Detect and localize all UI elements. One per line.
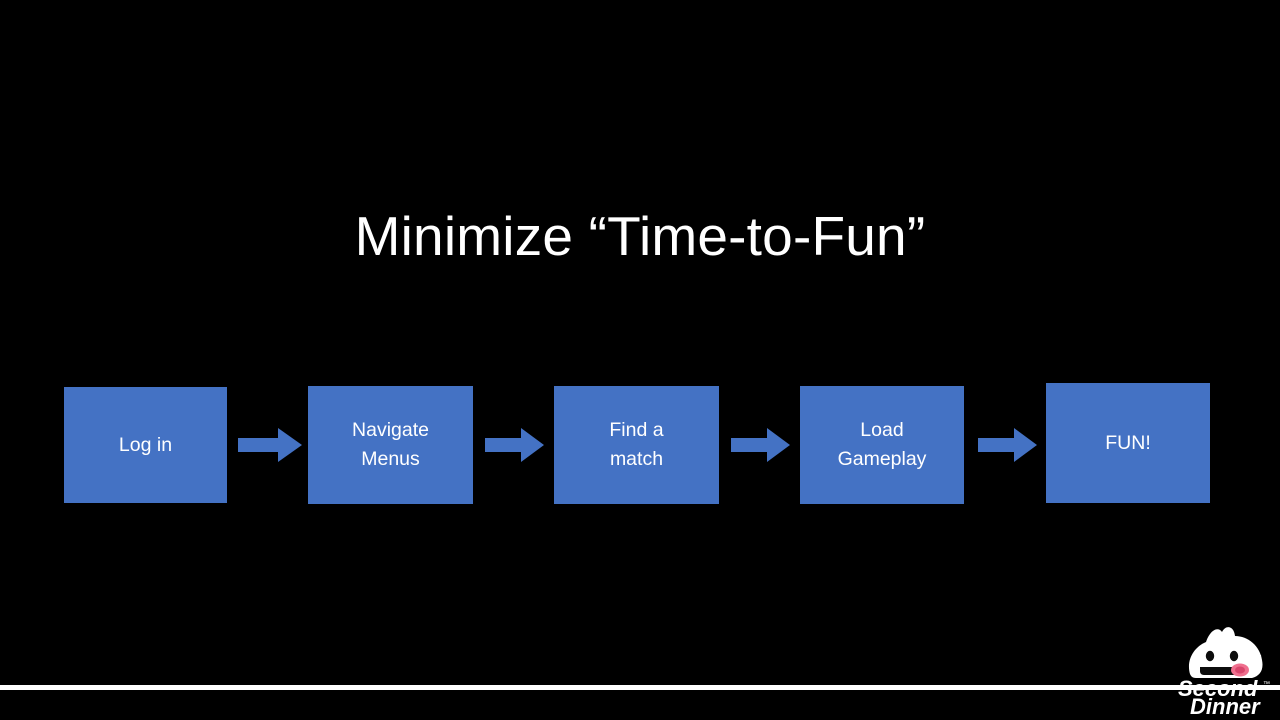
flow-arrow-3 [731, 428, 790, 462]
flow-step-find-a-match[interactable]: Find a match [554, 386, 719, 504]
flow-step-label: Find a match [560, 416, 713, 474]
flow-step-label: Load Gameplay [806, 416, 958, 474]
flow-arrow-4 [978, 428, 1037, 462]
flow-step-label: Navigate Menus [314, 416, 467, 474]
flow-step-navigate-menus[interactable]: Navigate Menus [308, 386, 473, 504]
flow-step-fun[interactable]: FUN! [1046, 383, 1210, 503]
process-flow-diagram: Log in Navigate Menus Find a match [0, 380, 1280, 510]
flow-step-label-line1: Load [860, 419, 903, 441]
flow-step-label-line2: Gameplay [838, 448, 927, 470]
logo-wordmark-line2: Dinner [1190, 694, 1261, 716]
flow-arrow-2 [485, 428, 544, 462]
flow-step-label-line1: Navigate [352, 419, 429, 441]
slide-title: Minimize “Time-to-Fun” [0, 203, 1280, 269]
flow-step-load-gameplay[interactable]: Load Gameplay [800, 386, 964, 504]
blob-character-icon [1189, 627, 1263, 678]
flow-step-label-line2: Menus [361, 448, 420, 470]
flow-step-label: FUN! [1052, 429, 1204, 458]
flow-step-label: Log in [70, 431, 221, 460]
flow-step-log-in[interactable]: Log in [64, 387, 227, 503]
slide-canvas: Minimize “Time-to-Fun” Log in Navigate M… [0, 0, 1280, 720]
footer-divider [0, 685, 1280, 690]
logo-trademark: ™ [1263, 681, 1270, 688]
second-dinner-logo: Second ™ Dinner [1172, 620, 1276, 716]
flow-step-label-line2: match [610, 448, 663, 470]
flow-arrow-1 [238, 428, 302, 462]
flow-step-label-line1: Find a [609, 419, 663, 441]
